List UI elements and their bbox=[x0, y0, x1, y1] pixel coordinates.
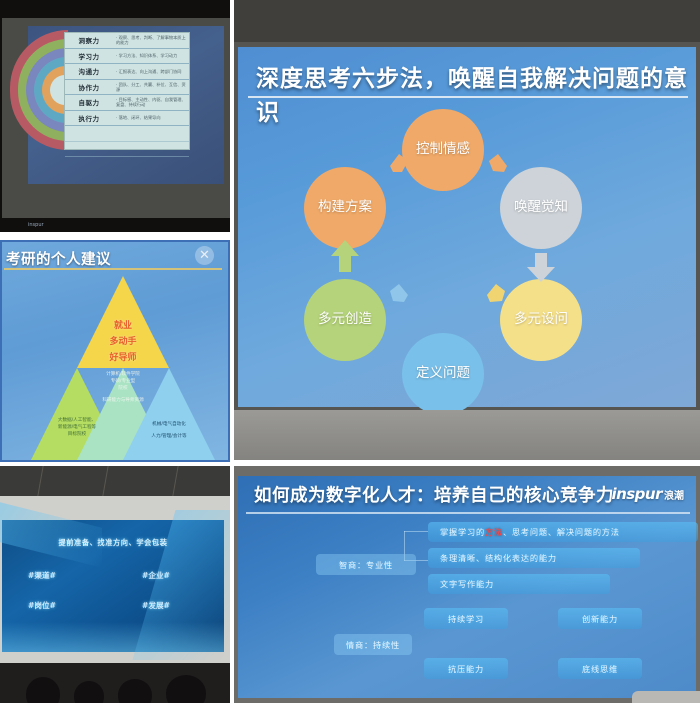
competency-desc: · 团队、分工、共赢、补位、互信、资源 bbox=[113, 80, 189, 95]
table-row: 沟通力 · 汇报表达、向上沟通、跨部门协同 bbox=[65, 64, 189, 80]
pyramid-graphic: 就业 多动手 好导师 计算机/软件学院 专硕/专业型 院校 科研能力与导师资源 … bbox=[30, 276, 216, 460]
projection-screen: 提前准备、找准方向、学会包装 #渠道# #企业# #岗位# #发展# bbox=[2, 520, 224, 652]
tag-position: #岗位# bbox=[28, 600, 56, 611]
table-row: 协作力 · 团队、分工、共赢、补位、互信、资源 bbox=[65, 80, 189, 96]
pyramid-left-line-1: 大数据/人工智能、 bbox=[44, 418, 110, 425]
competency-desc: · 目标感、主动性、内驱、自我管理、复盘、持续行动 bbox=[113, 95, 189, 110]
logo-text: inspur bbox=[611, 485, 662, 503]
page-title: 如何成为数字化人才：培养自己的核心竞争力 bbox=[254, 482, 614, 507]
node-label: 唤醒觉知 bbox=[514, 198, 568, 218]
table-row: 洞察力 · 观察、思考、判断、了解事物本质上的能力 bbox=[65, 33, 189, 49]
item-text-prefix: 掌握学习的 bbox=[440, 526, 485, 538]
node-build-solution: 构建方案 bbox=[304, 167, 386, 249]
node-define-problem: 定义问题 bbox=[402, 333, 484, 415]
logo-text-cn: 浪潮 bbox=[664, 491, 684, 502]
ceiling bbox=[0, 466, 230, 496]
panel-six-competencies: 洞察力 · 观察、思考、判断、了解事物本质上的能力 学习力 · 学习方法、知识体… bbox=[0, 0, 230, 232]
item-learning-method: 掌握学习的方法、思考问题、解决问题的方法 bbox=[428, 522, 698, 542]
category-iq: 智商：专业性 bbox=[316, 554, 416, 575]
panel-career-preparation: 提前准备、找准方向、学会包装 #渠道# #企业# #岗位# #发展# bbox=[0, 466, 230, 703]
competency-table: 洞察力 · 观察、思考、判断、了解事物本质上的能力 学习力 · 学习方法、知识体… bbox=[64, 32, 190, 150]
audience-head bbox=[166, 675, 206, 703]
slide-photo-collage: 洞察力 · 观察、思考、判断、了解事物本质上的能力 学习力 · 学习方法、知识体… bbox=[0, 0, 700, 703]
projection-screen: 深度思考六步法，唤醒自我解决问题的意识 控制情感 唤醒觉知 多元设问 定义问题 … bbox=[238, 47, 696, 407]
arrow-icon-build-to-control bbox=[388, 152, 410, 178]
competency-name: 沟通力 bbox=[65, 64, 113, 79]
tag-development: #发展# bbox=[142, 600, 170, 611]
audience-head bbox=[74, 681, 104, 703]
title-underline bbox=[246, 512, 690, 514]
node-label: 控制情感 bbox=[416, 140, 470, 160]
node-label: 多元创造 bbox=[318, 310, 372, 330]
table-row: 自驱力 · 目标感、主动性、内驱、自我管理、复盘、持续行动 bbox=[65, 95, 189, 111]
table-row-blank bbox=[65, 142, 189, 158]
node-awaken-awareness: 唤醒觉知 bbox=[500, 167, 582, 249]
item-stress-resistance: 抗压能力 bbox=[424, 658, 508, 679]
item-bottom-line-thinking: 底线思维 bbox=[558, 658, 642, 679]
headline-text: 提前准备、找准方向、学会包装 bbox=[10, 538, 216, 548]
item-text-suffix: 、思考问题、解决问题的方法 bbox=[503, 526, 620, 538]
table-row: 执行力 · 落地、闭环、结果导向 bbox=[65, 111, 189, 127]
title-underline bbox=[248, 96, 688, 98]
pyramid-left-line-3: 目标院校 bbox=[44, 432, 110, 439]
pyramid-right-line-2: 人力/管理/会计等 bbox=[136, 434, 202, 441]
arrow-icon-awaken-to-question bbox=[526, 253, 556, 287]
arrow-icon-question-to-define bbox=[485, 282, 507, 308]
city-skyline-decor bbox=[2, 622, 224, 652]
photo-bottom-border bbox=[234, 410, 700, 460]
audience-head bbox=[26, 677, 60, 703]
ceiling-seam bbox=[172, 466, 178, 496]
photo-top-border bbox=[234, 0, 700, 42]
competency-desc: · 落地、闭环、结果导向 bbox=[113, 111, 189, 126]
pyramid-label-duodongshou: 多动手 bbox=[30, 334, 216, 347]
node-control-emotion: 控制情感 bbox=[402, 109, 484, 191]
panel-postgrad-advice: 考研的个人建议 ✕ 就业 多动手 好导师 计算机/软件学院 专硕/专业型 院校 … bbox=[0, 240, 230, 462]
competency-desc: · 学习方法、知识体系、学习动力 bbox=[113, 49, 189, 64]
panel-six-step-thinking: 深度思考六步法，唤醒自我解决问题的意识 控制情感 唤醒觉知 多元设问 定义问题 … bbox=[234, 0, 700, 460]
item-structured-expression: 条理清晰、结构化表达的能力 bbox=[428, 548, 640, 568]
item-continuous-learning: 持续学习 bbox=[424, 608, 508, 629]
item-writing-ability: 文字写作能力 bbox=[428, 574, 610, 594]
pyramid-label-jiuye: 就业 bbox=[30, 318, 216, 331]
ceiling-seam bbox=[102, 466, 108, 496]
node-label: 构建方案 bbox=[318, 198, 372, 218]
competency-name: 执行力 bbox=[65, 111, 113, 126]
page-title: 考研的个人建议 bbox=[6, 248, 111, 269]
node-multi-questioning: 多元设问 bbox=[500, 279, 582, 361]
pyramid-left-line-2: 新能源/电气工程等 bbox=[44, 425, 110, 432]
title-underline bbox=[4, 268, 222, 270]
audience-head bbox=[118, 679, 152, 703]
connector-line bbox=[404, 531, 428, 532]
page-title: 深度思考六步法，唤醒自我解决问题的意识 bbox=[256, 59, 696, 127]
pyramid-label-haodaoshi: 好导师 bbox=[30, 350, 216, 363]
radial-arcs-graphic bbox=[10, 30, 72, 150]
competency-name: 学习力 bbox=[65, 49, 113, 64]
tag-enterprise: #企业# bbox=[142, 570, 170, 581]
projection-screen: 如何成为数字化人才：培养自己的核心竞争力 inspur浪潮 智商：专业性 掌握学… bbox=[238, 476, 696, 698]
node-label: 定义问题 bbox=[416, 364, 470, 384]
competency-name: 自驱力 bbox=[65, 95, 113, 110]
arrow-icon-create-to-build bbox=[330, 239, 360, 277]
competency-name: 洞察力 bbox=[65, 33, 113, 48]
tag-channel: #渠道# bbox=[28, 570, 56, 581]
arrow-icon-control-to-awaken bbox=[487, 152, 509, 178]
audience-silhouettes bbox=[0, 663, 230, 703]
competency-desc: · 观察、思考、判断、了解事物本质上的能力 bbox=[113, 33, 189, 48]
photo-corner-object bbox=[632, 691, 700, 703]
item-innovation: 创新能力 bbox=[558, 608, 642, 629]
table-row-blank bbox=[65, 126, 189, 142]
competency-name: 协作力 bbox=[65, 80, 113, 95]
close-icon[interactable]: ✕ bbox=[195, 246, 214, 265]
arrow-icon-define-to-create bbox=[388, 282, 410, 308]
pyramid-right-line-1: 机械/电气自动化 bbox=[136, 422, 202, 429]
ceiling-seam bbox=[37, 466, 43, 496]
category-eq: 情商：持续性 bbox=[334, 634, 412, 655]
table-row: 学习力 · 学习方法、知识体系、学习动力 bbox=[65, 49, 189, 65]
pyramid-mid-line-3: 院校 bbox=[87, 386, 159, 393]
pyramid-mid-line-2: 专硕/专业型 bbox=[87, 379, 159, 386]
inspur-logo: inspur浪潮 bbox=[611, 485, 684, 503]
node-label: 多元设问 bbox=[514, 310, 568, 330]
slide-footer-logo: inspur bbox=[28, 222, 44, 228]
pyramid-mid-line-1: 计算机/软件学院 bbox=[87, 372, 159, 379]
item-text-highlight: 方法 bbox=[485, 526, 503, 538]
pyramid-mid-line-4: 科研能力与导师资源 bbox=[87, 398, 159, 405]
node-multi-creation: 多元创造 bbox=[304, 279, 386, 361]
panel-digital-talent: 如何成为数字化人才：培养自己的核心竞争力 inspur浪潮 智商：专业性 掌握学… bbox=[234, 466, 700, 703]
competency-desc: · 汇报表达、向上沟通、跨部门协同 bbox=[113, 64, 189, 79]
